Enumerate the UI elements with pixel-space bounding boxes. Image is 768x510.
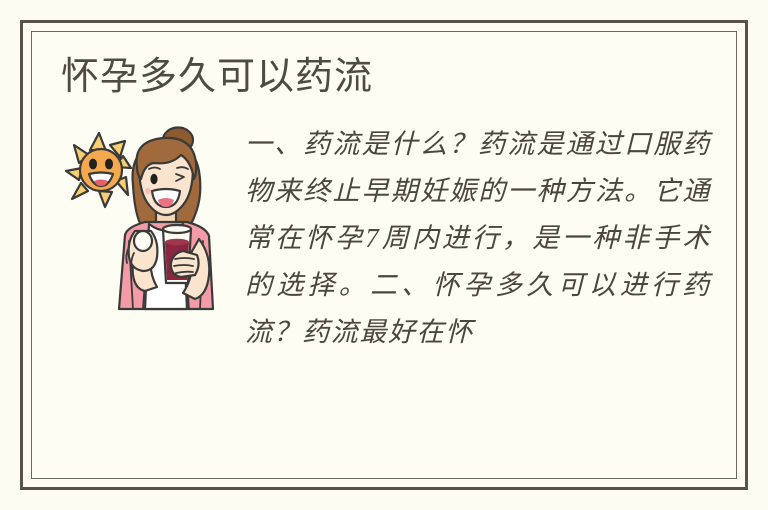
- article-card: 怀孕多久可以药流 .ol { stroke:#3a3a38; stroke-wi…: [0, 0, 768, 510]
- illustration: .ol { stroke:#3a3a38; stroke-width:2.2; …: [63, 123, 233, 313]
- smiling-sun-icon: [66, 133, 131, 207]
- article-content: 怀孕多久可以药流 .ol { stroke:#3a3a38; stroke-wi…: [31, 31, 737, 479]
- ok-hand-gesture: [126, 231, 157, 271]
- article-paragraph: 一、药流是什么？药流是通过口服药物来终止早期妊娠的一种方法。它通常在怀孕7周内进…: [245, 121, 711, 356]
- page-title: 怀孕多久可以药流: [61, 53, 711, 101]
- woman-figure: [119, 128, 213, 310]
- article-body: .ol { stroke:#3a3a38; stroke-width:2.2; …: [61, 119, 711, 356]
